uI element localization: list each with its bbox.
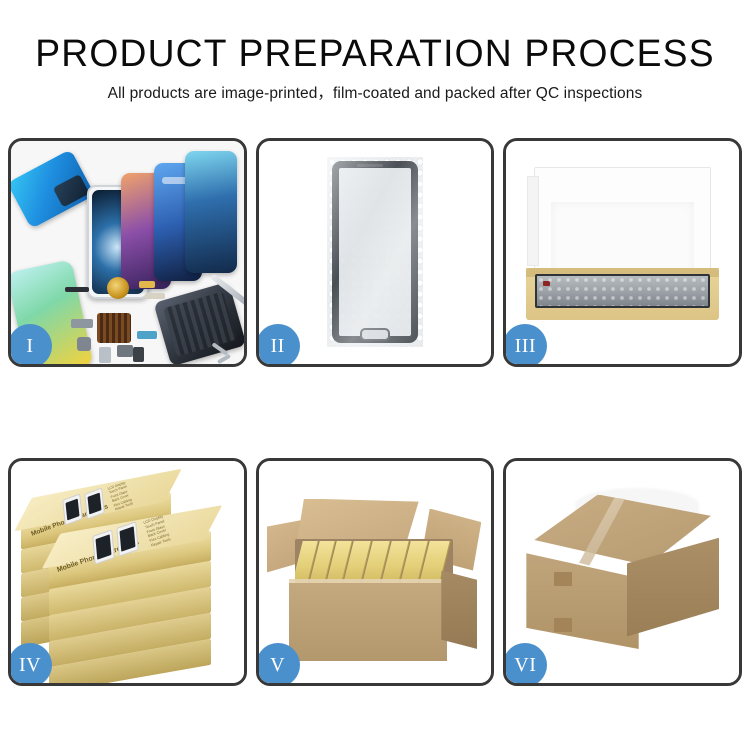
carton-handle-tab-top	[554, 572, 572, 586]
step-badge-1: I	[8, 324, 52, 367]
process-step-panel-4: Mobile Phone Spare Parts LCD Display Tou…	[8, 458, 247, 687]
bubble-wrap-film	[327, 157, 423, 347]
open-carton	[273, 495, 478, 662]
spare-part-ribbon	[137, 331, 157, 339]
speaker-coil-part	[107, 277, 129, 299]
process-step-panel-6: VI	[503, 458, 742, 687]
packed-screen	[535, 274, 710, 308]
screen-label-sticker	[543, 281, 550, 286]
carton-handle-tab-bottom	[554, 618, 572, 632]
box-thumbnail-1	[92, 529, 114, 565]
step-badge-5: V	[256, 643, 300, 686]
inner-box-photo	[506, 141, 739, 364]
box-lid-open	[534, 167, 711, 273]
spare-part-module	[99, 347, 111, 363]
box-tray	[526, 268, 719, 320]
spare-part-clip	[71, 319, 93, 328]
circuit-chip-part	[97, 313, 131, 343]
spare-part-connector	[65, 287, 89, 292]
kraft-inner-box	[526, 167, 719, 320]
carton-front-face	[289, 583, 448, 662]
box-thumbnail-2	[116, 521, 138, 557]
step-badge-2: II	[256, 324, 300, 367]
phone-screen-cyan	[11, 149, 95, 229]
process-step-grid: I II	[8, 138, 742, 686]
process-step-panel-3: III	[503, 138, 742, 367]
spare-part-button	[77, 337, 91, 351]
step-badge-3: III	[503, 324, 547, 367]
process-step-panel-1: I	[8, 138, 247, 367]
step-badge-6: VI	[503, 643, 547, 686]
header: PRODUCT PREPARATION PROCESS All products…	[0, 0, 750, 103]
spare-part-screw-2	[217, 354, 231, 364]
carton-side-face	[441, 571, 477, 650]
page-subtitle: All products are image-printed，film-coat…	[0, 74, 750, 103]
spare-part-gold-flex	[139, 281, 155, 288]
sealed-carton	[522, 495, 723, 650]
spare-part-bracket	[145, 293, 165, 299]
carton-front-face	[526, 553, 638, 649]
film-sheen	[327, 157, 423, 347]
phone-screen-teal	[185, 151, 237, 273]
spare-part-camera	[117, 345, 133, 357]
product-preparation-infographic: PRODUCT PREPARATION PROCESS All products…	[0, 0, 750, 750]
process-step-panel-2: II	[256, 138, 495, 367]
process-step-panel-5: V	[256, 458, 495, 687]
page-title: PRODUCT PREPARATION PROCESS	[8, 0, 743, 74]
spare-part-battery	[133, 347, 144, 362]
step-badge-4: IV	[8, 643, 52, 686]
